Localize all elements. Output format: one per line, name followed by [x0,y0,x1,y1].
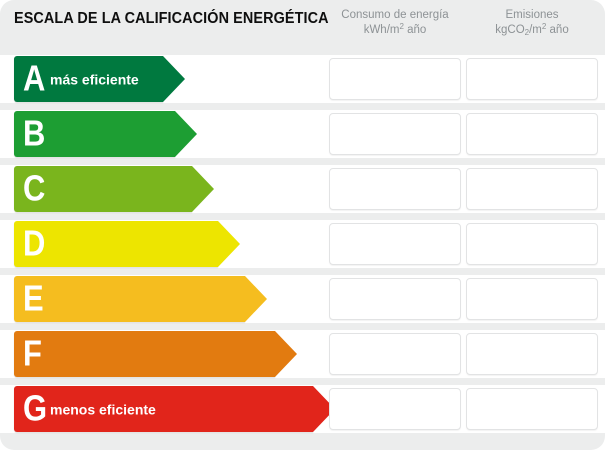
rating-row: Amás eficiente [0,55,605,103]
column-header-emisiones-line1: Emisiones [505,9,558,21]
value-box-consumo[interactable] [329,58,461,100]
rating-row: F [0,330,605,378]
grade-bar-b[interactable]: B [14,111,175,157]
column-header-emisiones: Emisiones kgCO2/m2 año [466,8,598,38]
rating-row: E [0,275,605,323]
value-box-consumo[interactable] [329,113,461,155]
page-title: ESCALA DE LA CALIFICACIÓN ENERGÉTICA [14,10,329,28]
arrow-tip-icon [218,221,240,267]
value-box-emisiones[interactable] [466,333,598,375]
column-header-emisiones-line2: kgCO2/m2 año [466,23,598,38]
column-header-consumo-line1: Consumo de energía [341,9,448,21]
value-box-consumo[interactable] [329,388,461,430]
grade-bar-f[interactable]: F [14,331,275,377]
value-box-emisiones[interactable] [466,113,598,155]
arrow-tip-icon [245,276,267,322]
column-header-consumo-line2: kWh/m2 año [329,23,461,38]
grade-caption: menos eficiente [50,401,156,417]
grade-bar-d[interactable]: D [14,221,218,267]
value-box-consumo[interactable] [329,333,461,375]
arrow-tip-icon [275,331,297,377]
grade-letter: A [23,60,45,96]
column-header-consumo: Consumo de energía kWh/m2 año [329,8,461,38]
value-box-emisiones[interactable] [466,388,598,430]
rating-row: D [0,220,605,268]
grade-letter: G [23,390,47,426]
energy-rating-panel: ESCALA DE LA CALIFICACIÓN ENERGÉTICA Con… [0,0,605,450]
grade-bar-g[interactable]: Gmenos eficiente [14,386,313,432]
value-box-emisiones[interactable] [466,223,598,265]
grade-letter: D [23,225,45,261]
grade-letter: C [23,170,45,206]
rating-row: B [0,110,605,158]
grade-caption: más eficiente [50,71,139,87]
grade-bar-e[interactable]: E [14,276,245,322]
grade-letter: B [23,115,45,151]
value-box-emisiones[interactable] [466,58,598,100]
value-box-emisiones[interactable] [466,168,598,210]
panel-header: ESCALA DE LA CALIFICACIÓN ENERGÉTICA Con… [0,0,605,50]
arrow-tip-icon [175,111,197,157]
rating-row: Gmenos eficiente [0,385,605,433]
arrow-tip-icon [163,56,185,102]
grade-letter: F [23,335,42,371]
value-box-consumo[interactable] [329,223,461,265]
value-box-consumo[interactable] [329,168,461,210]
value-box-consumo[interactable] [329,278,461,320]
grade-bar-a[interactable]: Amás eficiente [14,56,163,102]
grade-bar-c[interactable]: C [14,166,192,212]
value-box-emisiones[interactable] [466,278,598,320]
grade-letter: E [23,280,44,316]
arrow-tip-icon [192,166,214,212]
rating-row: C [0,165,605,213]
